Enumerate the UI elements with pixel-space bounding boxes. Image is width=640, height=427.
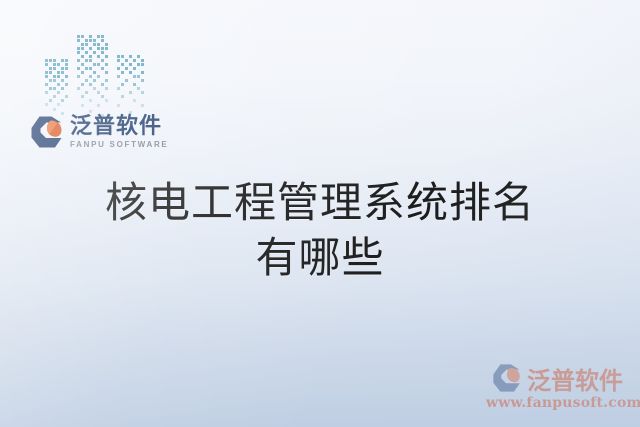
fanpu-logo-watermark-icon — [492, 363, 522, 393]
pixel-buildings-icon — [44, 32, 152, 118]
brand-wordmark: 泛普软件 FANPU SOFTWARE — [70, 116, 168, 149]
watermark-url: www.fanpusoft.com — [486, 395, 634, 411]
brand-logo: 泛普软件 FANPU SOFTWARE — [30, 112, 168, 152]
watermark: 泛普软件 www.fanpusoft.com — [486, 359, 634, 421]
brand-name-cn: 泛普软件 — [70, 116, 168, 138]
fanpu-logo-icon — [30, 115, 64, 149]
watermark-name-cn: 泛普软件 — [527, 361, 623, 396]
brand-name-en: FANPU SOFTWARE — [70, 141, 168, 149]
promo-banner: 泛普软件 FANPU SOFTWARE 核电工程管理系统排名 有哪些 泛普软件 … — [0, 0, 640, 427]
page-title: 核电工程管理系统排名 有哪些 — [0, 176, 640, 285]
page-title-line-1: 核电工程管理系统排名 — [0, 176, 640, 231]
page-title-line-2: 有哪些 — [0, 231, 640, 286]
watermark-logo-row: 泛普软件 — [486, 359, 634, 397]
